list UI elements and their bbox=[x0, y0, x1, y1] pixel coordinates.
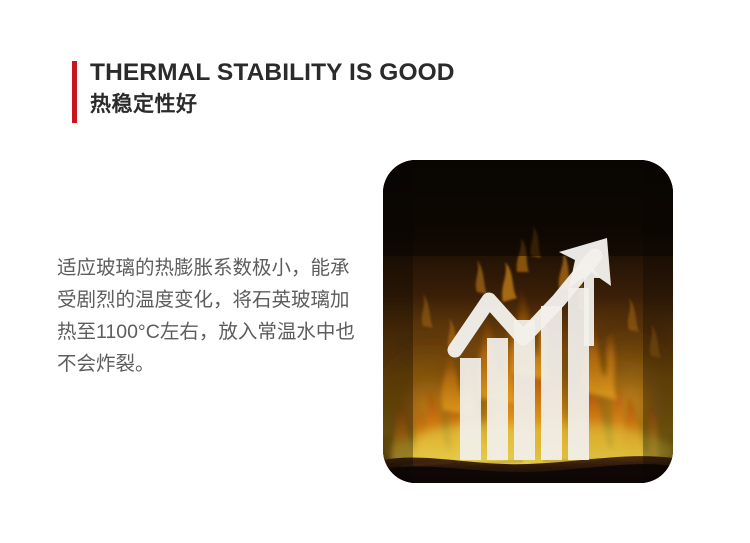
chart-bar-4 bbox=[541, 306, 562, 460]
fire-growth-chart-image bbox=[383, 160, 673, 483]
chart-bar-1 bbox=[460, 358, 481, 460]
page-title-english: THERMAL STABILITY IS GOOD bbox=[90, 58, 455, 88]
red-accent-bar bbox=[72, 61, 77, 123]
chart-bar-2 bbox=[487, 338, 508, 460]
page-title-chinese: 热稳定性好 bbox=[90, 90, 455, 120]
fire-illustration-svg bbox=[383, 160, 673, 483]
title-group: THERMAL STABILITY IS GOOD 热稳定性好 bbox=[90, 58, 455, 120]
description-paragraph: 适应玻璃的热膨胀系数极小，能承受剧烈的温度变化，将石英玻璃加热至1100°C左右… bbox=[57, 252, 357, 380]
